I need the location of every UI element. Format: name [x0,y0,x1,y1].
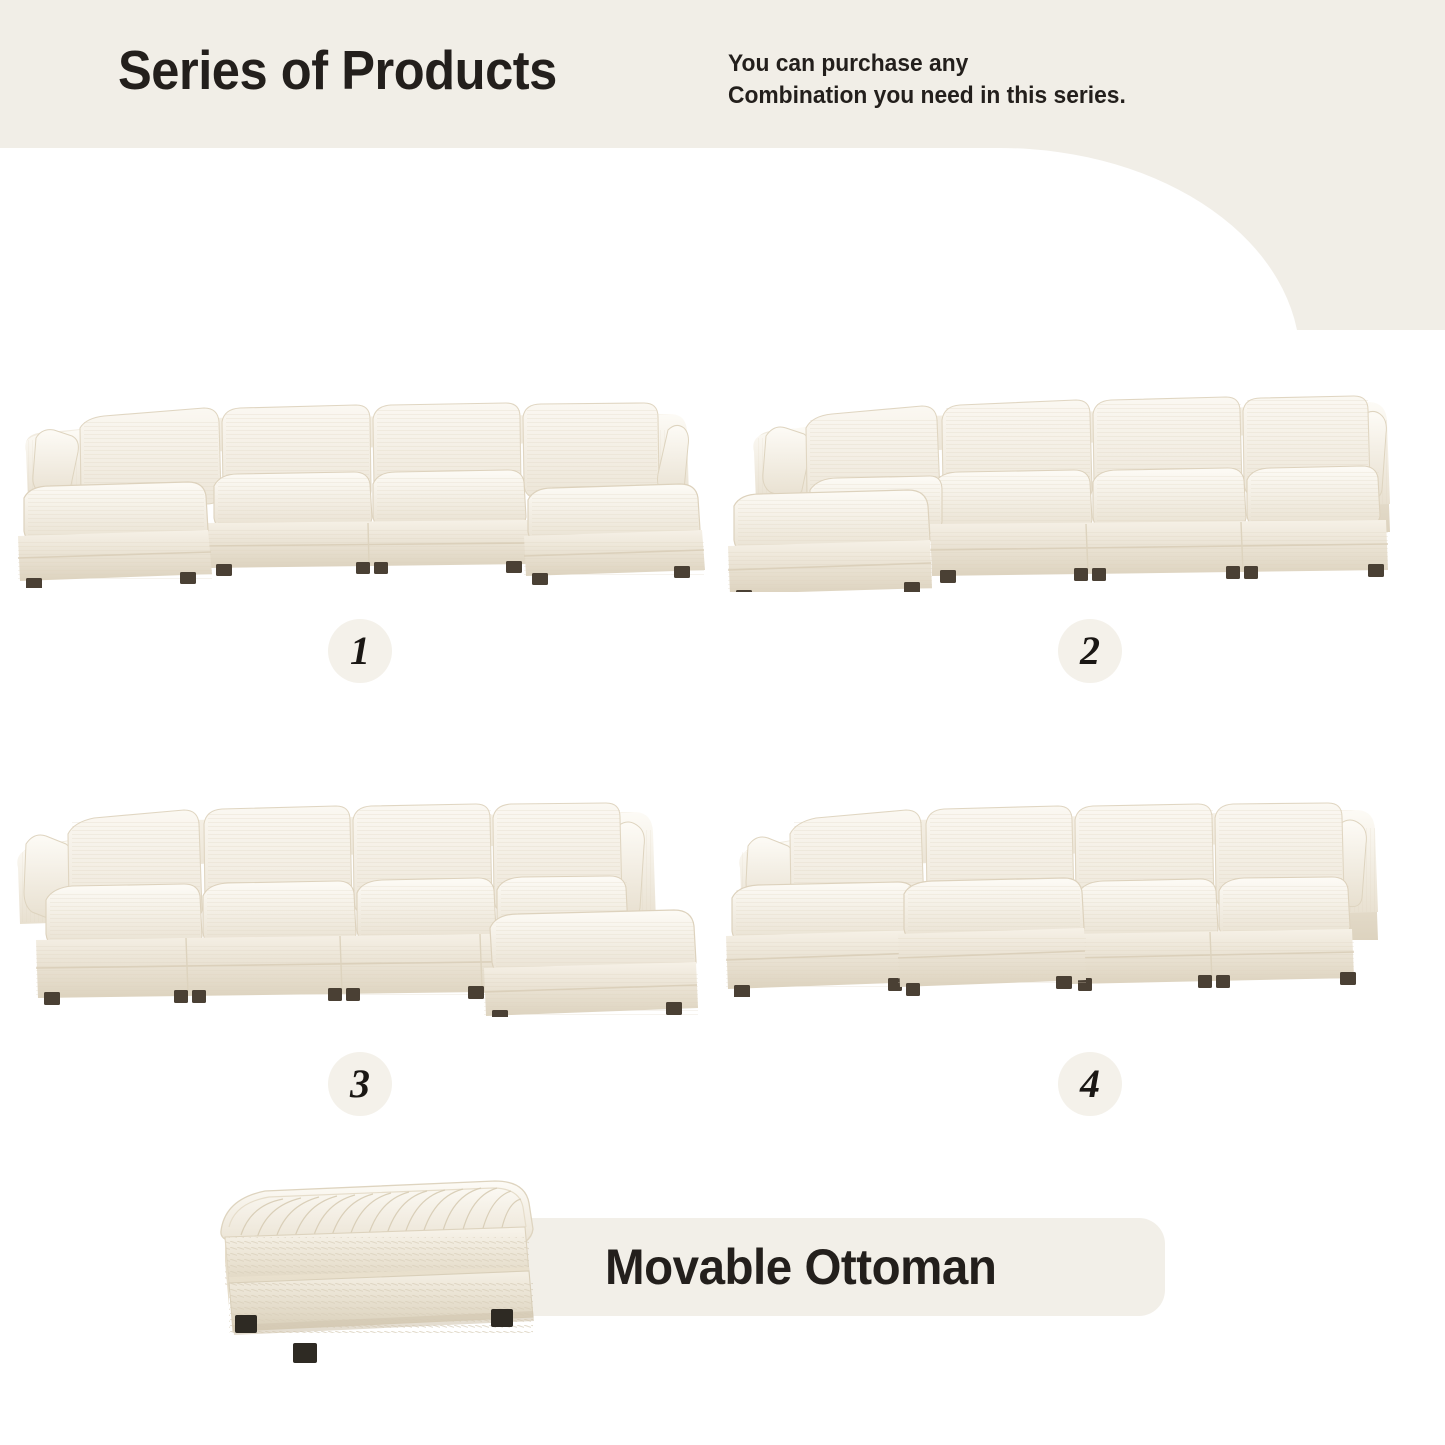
product-4-image[interactable] [726,782,1416,997]
sofa-illustration-2 [726,372,1416,592]
product-badge-4: 4 [1058,1052,1122,1116]
movable-ottoman-label: Movable Ottoman [605,1228,996,1306]
product-badge-1: 1 [328,619,392,683]
movable-ottoman-image[interactable] [195,1175,565,1380]
product-1-image[interactable] [8,378,708,588]
product-badge-2: 2 [1058,619,1122,683]
sofa-illustration-1 [8,378,708,588]
sofa-illustration-3 [10,782,700,1017]
product-series-infographic: Series of Products You can purchase any … [0,0,1445,1445]
product-2-image[interactable] [726,372,1416,592]
product-badge-3-label: 3 [350,1064,370,1104]
product-badge-4-label: 4 [1080,1064,1100,1104]
sofa-illustration-4 [726,782,1416,997]
product-badge-1-label: 1 [350,631,370,671]
ottoman-illustration [195,1175,565,1375]
product-3-image[interactable] [10,782,700,1017]
product-badge-2-label: 2 [1080,631,1100,671]
product-badge-3: 3 [328,1052,392,1116]
